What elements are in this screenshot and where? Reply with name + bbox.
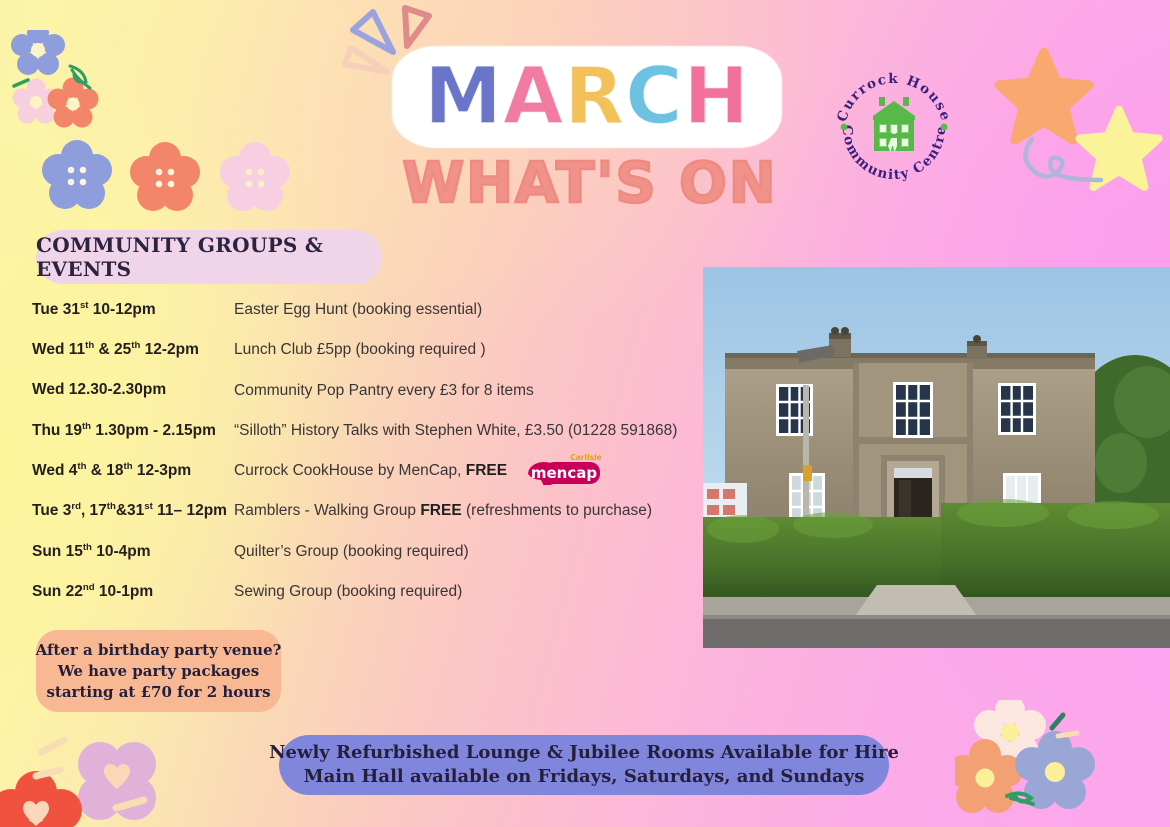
event-row: Sun 22nd 10-1pmSewing Group (booking req… bbox=[32, 582, 712, 622]
house-icon bbox=[873, 97, 915, 151]
triangle-blue bbox=[353, 12, 393, 52]
event-description: Currock CookHouse by MenCap, FREECarlisl… bbox=[234, 462, 507, 480]
sparkle-dashes-bottom-left bbox=[20, 730, 160, 825]
event-description: Ramblers - Walking Group FREE (refreshme… bbox=[234, 502, 652, 520]
triangle-peach bbox=[345, 48, 387, 72]
event-when: Wed 4th & 18th 12-3pm bbox=[32, 461, 191, 480]
event-row: Wed 12.30-2.30pmCommunity Pop Pantry eve… bbox=[32, 381, 712, 421]
section-heading-pill: COMMUNITY GROUPS & EVENTS bbox=[36, 230, 382, 284]
event-description: Sewing Group (booking required) bbox=[234, 583, 462, 601]
button-flower-blue bbox=[40, 140, 114, 212]
mencap-region: Carlisle bbox=[570, 453, 602, 462]
blue-flower-small bbox=[11, 30, 65, 75]
triangle-red bbox=[405, 8, 429, 46]
event-when: Tue 31st 10-12pm bbox=[32, 300, 156, 319]
party-line-2: We have party packages bbox=[58, 662, 259, 682]
button-flower-pink bbox=[218, 142, 292, 214]
event-description: Community Pop Pantry every £3 for 8 item… bbox=[234, 382, 534, 400]
hire-line-1: Newly Refurbished Lounge & Jubilee Rooms… bbox=[269, 742, 899, 764]
event-description: Easter Egg Hunt (booking essential) bbox=[234, 301, 482, 319]
section-heading-label: COMMUNITY GROUPS & EVENTS bbox=[36, 233, 382, 281]
logo-dot-left bbox=[841, 124, 848, 131]
event-when: Wed 12.30-2.30pm bbox=[32, 381, 166, 399]
event-when: Wed 11th & 25th 12-2pm bbox=[32, 340, 199, 359]
mencap-wordmark: mencap bbox=[531, 464, 597, 482]
event-row: Sun 15th 10-4pmQuilter’s Group (booking … bbox=[32, 542, 712, 582]
button-flower-orange bbox=[128, 142, 202, 214]
month-letter-3: C bbox=[625, 58, 683, 136]
squiggle-loop bbox=[1018, 135, 1108, 195]
party-line-1: After a birthday party venue? bbox=[36, 641, 282, 661]
event-description: Lunch Club £5pp (booking required ) bbox=[234, 341, 486, 359]
event-when: Thu 19th 1.30pm - 2.15pm bbox=[32, 421, 216, 440]
event-description: “Silloth” History Talks with Stephen Whi… bbox=[234, 422, 677, 440]
currock-house-logo: Currock House Community Centre bbox=[833, 70, 955, 182]
event-when: Sun 22nd 10-1pm bbox=[32, 582, 153, 601]
party-package-callout: After a birthday party venue? We have pa… bbox=[36, 630, 281, 712]
mencap-logo: Carlislemencap bbox=[524, 451, 602, 485]
party-line-3: starting at £70 for 2 hours bbox=[46, 683, 270, 703]
event-row: Wed 4th & 18th 12-3pmCurrock CookHouse b… bbox=[32, 461, 712, 501]
hire-line-2: Main Hall available on Fridays, Saturday… bbox=[304, 766, 865, 788]
building-photo bbox=[703, 267, 1170, 648]
month-letter-2: R bbox=[564, 58, 625, 136]
event-row: Tue 3rd, 17th&31st 11– 12pmRamblers - Wa… bbox=[32, 501, 712, 541]
flower-cluster-bottom-right bbox=[955, 700, 1155, 827]
event-row: Tue 31st 10-12pmEaster Egg Hunt (booking… bbox=[32, 300, 712, 340]
month-letter-0: M bbox=[424, 58, 503, 136]
subtitle: WHAT'S ON bbox=[390, 148, 790, 218]
event-when: Sun 15th 10-4pm bbox=[32, 542, 150, 561]
dash-mark bbox=[14, 80, 28, 86]
orange-flower-small bbox=[48, 78, 99, 128]
event-description: Quilter’s Group (booking required) bbox=[234, 543, 469, 561]
month-title-letters: M A R C H bbox=[392, 46, 782, 148]
month-letter-4: H bbox=[684, 58, 750, 136]
events-list: Tue 31st 10-12pmEaster Egg Hunt (booking… bbox=[32, 300, 712, 622]
event-row: Wed 11th & 25th 12-2pmLunch Club £5pp (b… bbox=[32, 340, 712, 380]
logo-dot-right bbox=[941, 124, 948, 131]
month-letter-1: A bbox=[503, 58, 564, 136]
room-hire-banner: Newly Refurbished Lounge & Jubilee Rooms… bbox=[279, 735, 889, 795]
event-row: Thu 19th 1.30pm - 2.15pm“Silloth” Histor… bbox=[32, 421, 712, 461]
event-when: Tue 3rd, 17th&31st 11– 12pm bbox=[32, 501, 227, 520]
month-title: M A R C H bbox=[392, 46, 782, 148]
